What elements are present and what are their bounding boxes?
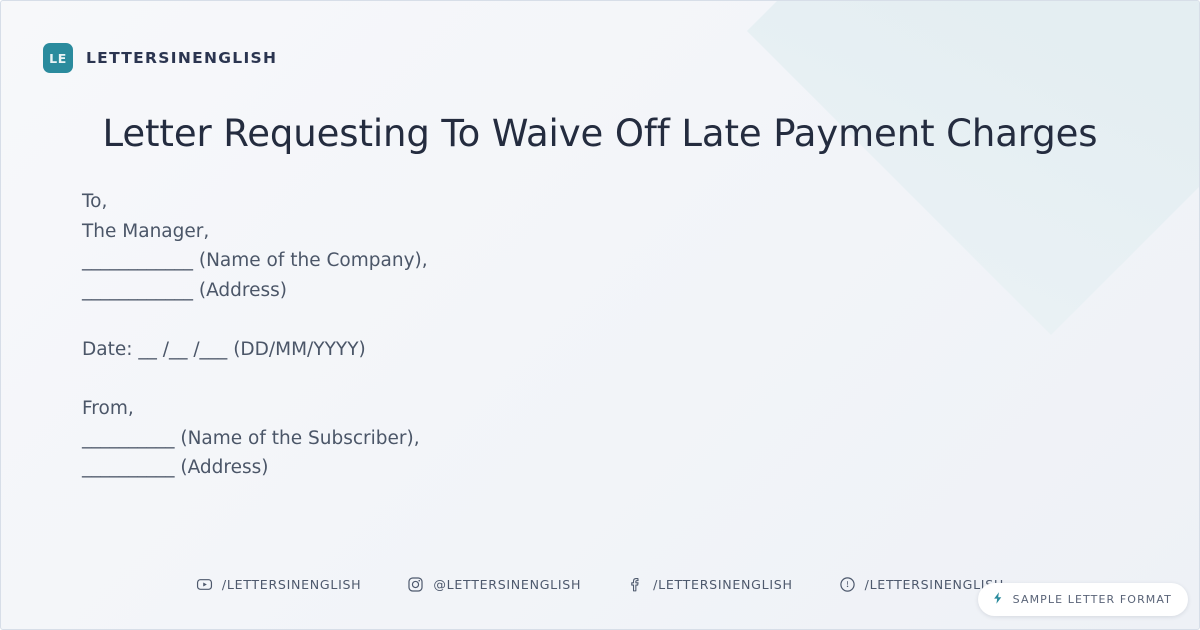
social-handle-youtube: /LETTERSINENGLISH <box>222 577 361 592</box>
letter-body: To, The Manager, ____________ (Name of t… <box>82 187 902 483</box>
youtube-icon <box>196 576 213 593</box>
social-handle-facebook: /LETTERSINENGLISH <box>653 577 792 592</box>
letter-line-company-address: ____________ (Address) <box>82 276 902 306</box>
letter-line-from: From, <box>82 394 902 424</box>
letter-line-subscriber: __________ (Name of the Subscriber), <box>82 424 902 454</box>
social-link-youtube[interactable]: /LETTERSINENGLISH <box>196 576 361 593</box>
letter-line-recipient-title: The Manager, <box>82 217 902 247</box>
letter-line-to: To, <box>82 187 902 217</box>
badge-label: SAMPLE LETTER FORMAT <box>1013 593 1172 606</box>
letter-line-company: ____________ (Name of the Company), <box>82 246 902 276</box>
facebook-icon <box>627 576 644 593</box>
letter-line-date: Date: __ /__ /___ (DD/MM/YYYY) <box>82 335 902 365</box>
page-title: Letter Requesting To Waive Off Late Paym… <box>1 109 1199 159</box>
brand-name-label: LETTERSINENGLISH <box>86 49 277 67</box>
instagram-icon <box>407 576 424 593</box>
brand-mark-icon: LE <box>43 43 73 73</box>
letter-spacer-2 <box>82 365 902 395</box>
poster-canvas: LE LETTERSINENGLISH Letter Requesting To… <box>0 0 1200 630</box>
lightning-bolt-icon <box>991 590 1005 609</box>
letter-line-subscriber-address: __________ (Address) <box>82 453 902 483</box>
sample-letter-format-badge[interactable]: SAMPLE LETTER FORMAT <box>978 583 1188 616</box>
social-link-instagram[interactable]: @LETTERSINENGLISH <box>407 576 581 593</box>
social-handle-instagram: @LETTERSINENGLISH <box>433 577 581 592</box>
brand-logo[interactable]: LE LETTERSINENGLISH <box>43 43 277 73</box>
letter-spacer-1 <box>82 305 902 335</box>
pinterest-icon <box>839 576 856 593</box>
social-link-facebook[interactable]: /LETTERSINENGLISH <box>627 576 792 593</box>
